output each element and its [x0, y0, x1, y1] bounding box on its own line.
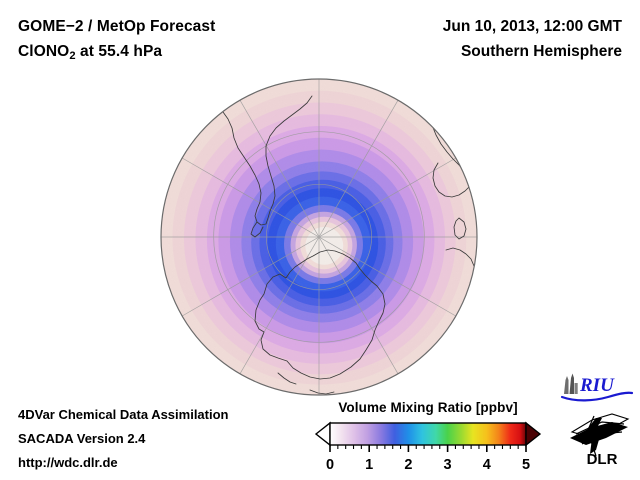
- svg-text:1: 1: [365, 457, 373, 473]
- svg-text:3: 3: [444, 457, 452, 473]
- riu-logo: RIU: [560, 372, 634, 402]
- title-instrument: GOME−2 / MetOp Forecast: [18, 14, 215, 39]
- colorbar-block: Volume Mixing Ratio [ppbv] 012345: [308, 400, 548, 477]
- colorbar-title: Volume Mixing Ratio [ppbv]: [308, 400, 548, 415]
- riu-wordmark: RIU: [579, 375, 615, 396]
- dlr-wordmark: DLR: [587, 451, 618, 468]
- header-left: GOME−2 / MetOp Forecast ClONO2 at 55.4 h…: [18, 14, 215, 69]
- colorbar-ticks: [330, 445, 526, 452]
- method-label: 4DVar Chemical Data Assimilation: [18, 403, 229, 427]
- title-species-level: ClONO2 at 55.4 hPa: [18, 39, 215, 69]
- timestamp-label: Jun 10, 2013, 12:00 GMT: [443, 14, 622, 39]
- hemisphere-label: Southern Hemisphere: [443, 39, 622, 64]
- header-right: Jun 10, 2013, 12:00 GMT Southern Hemisph…: [443, 14, 622, 64]
- svg-text:4: 4: [483, 457, 491, 473]
- species-name: ClONO: [18, 43, 69, 60]
- url-label[interactable]: http://wdc.dlr.de: [18, 451, 229, 475]
- colorbar-gradient-bar: [330, 423, 526, 445]
- svg-text:5: 5: [522, 457, 530, 473]
- polar-stereographic-map: [160, 78, 478, 396]
- svg-text:0: 0: [326, 457, 334, 473]
- riu-towers-icon: [564, 374, 578, 395]
- dlr-logo: DLR: [566, 410, 632, 468]
- globe-svg: [160, 78, 478, 396]
- version-label: SACADA Version 2.4: [18, 427, 229, 451]
- colorbar-under-arrow: [316, 423, 330, 445]
- colorbar-tick-labels: 012345: [326, 457, 530, 473]
- svg-text:2: 2: [404, 457, 412, 473]
- colorbar-over-arrow: [526, 423, 540, 445]
- dlr-mark-icon: [570, 414, 628, 456]
- colorbar-svg: 012345: [308, 419, 548, 477]
- footer-left: 4DVar Chemical Data Assimilation SACADA …: [18, 403, 229, 475]
- pressure-level: at 55.4 hPa: [76, 43, 163, 60]
